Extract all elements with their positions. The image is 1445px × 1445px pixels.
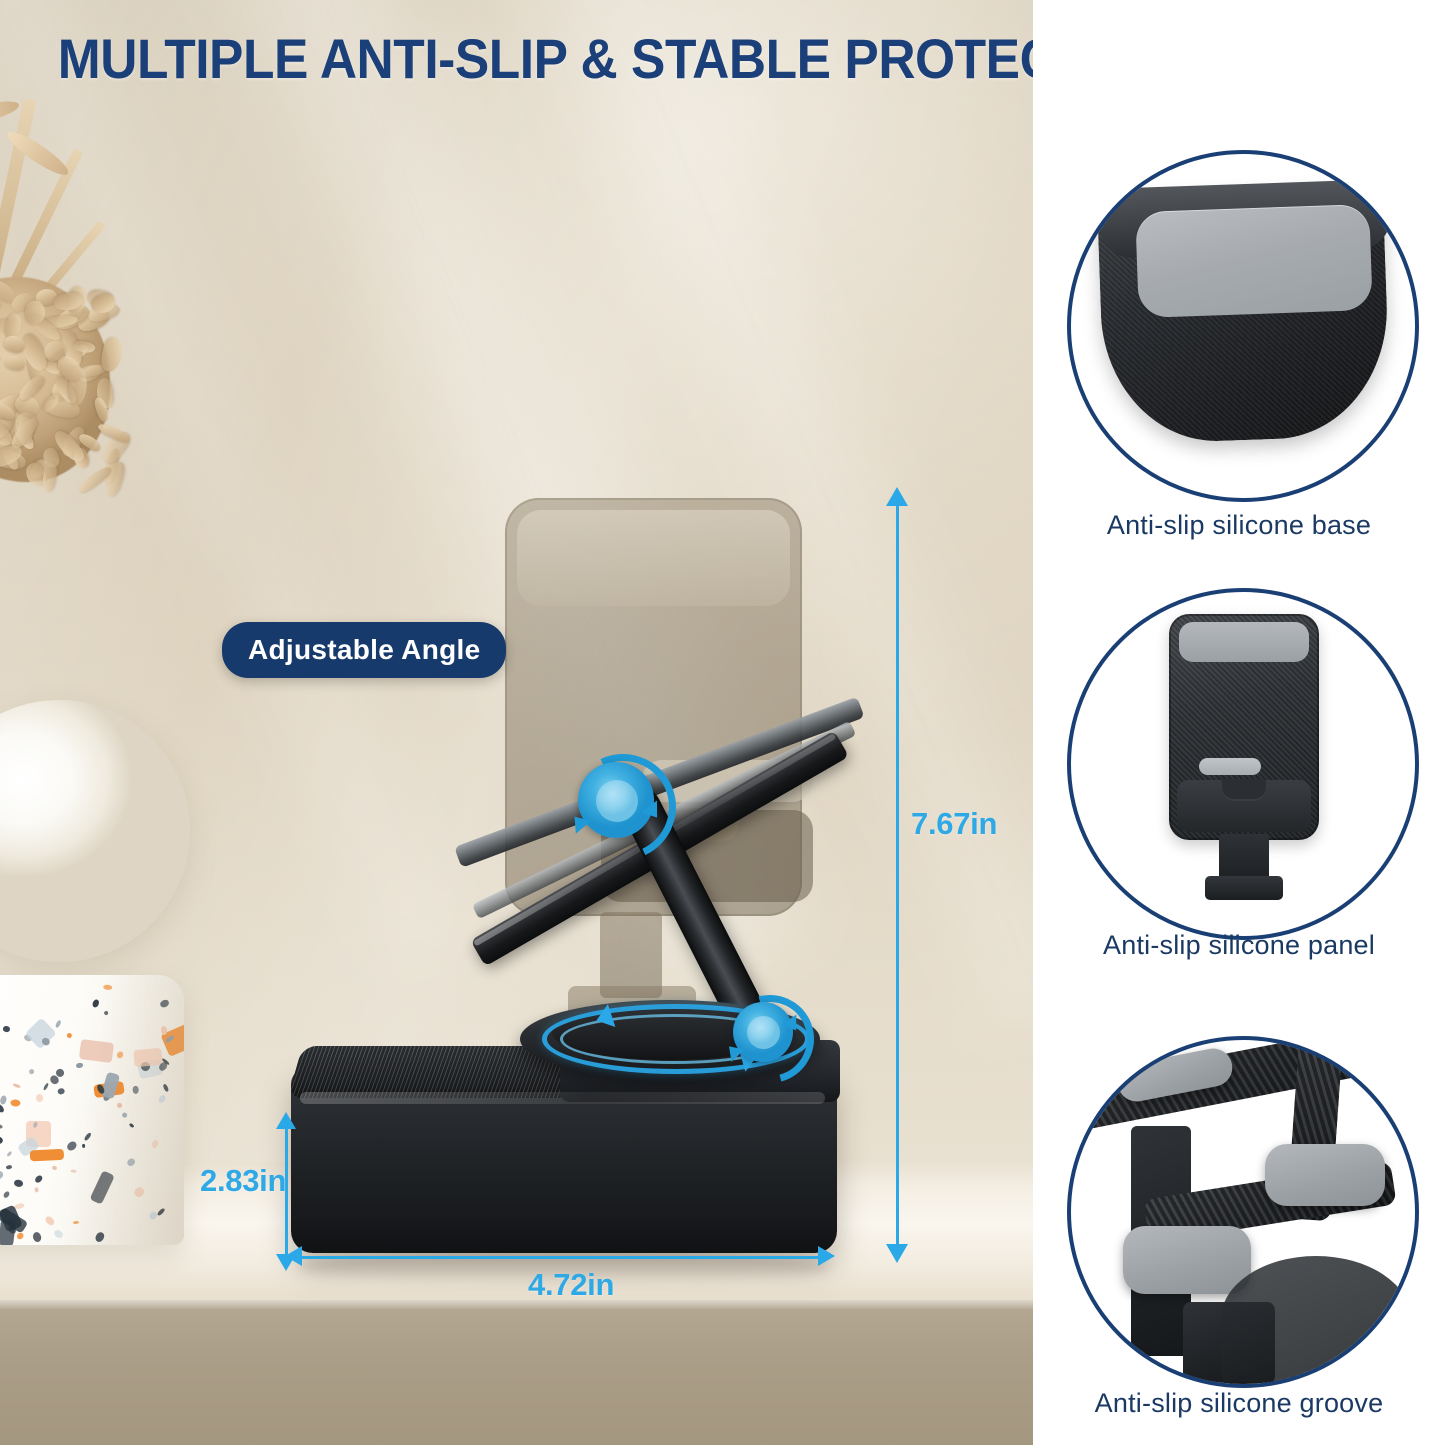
panel-hinge xyxy=(1205,876,1283,900)
width-dimension-line xyxy=(300,1256,822,1259)
feature-silicone-panel: Anti-slip silicone panel xyxy=(1033,588,1445,988)
width-dimension-label: 4.72in xyxy=(528,1267,614,1303)
phone-stand-product xyxy=(0,0,1033,1445)
adjustable-angle-badge: Adjustable Angle xyxy=(222,622,506,678)
upper-arm xyxy=(1067,1036,1393,1133)
product-scene: Adjustable Angle 7.67in 2.83in 4.72in xyxy=(0,0,1033,1445)
base-shadow-shape xyxy=(1221,1256,1411,1382)
height-dimension-line xyxy=(896,505,899,1245)
silicone-pad-top xyxy=(1179,622,1309,662)
feature-circle-frame xyxy=(1067,1036,1419,1388)
base-highlight xyxy=(300,1092,825,1104)
feature-circle-frame xyxy=(1067,588,1419,940)
dimension-arrow-down-icon xyxy=(886,1244,908,1263)
feature-silicone-groove: Anti-slip silicone groove xyxy=(1033,1036,1445,1445)
height-dimension-label: 7.67in xyxy=(911,806,997,842)
silicone-pad xyxy=(1135,204,1373,318)
feature-silicone-base: Anti-slip silicone base xyxy=(1033,150,1445,570)
feature-label-silicone-panel: Anti-slip silicone panel xyxy=(1033,930,1445,961)
silicone-pad-right xyxy=(1265,1144,1385,1206)
dimension-arrow-up-icon xyxy=(886,487,908,506)
dimension-arrow-left-icon xyxy=(285,1246,302,1266)
infographic-canvas: Adjustable Angle 7.67in 2.83in 4.72in MU… xyxy=(0,0,1445,1445)
dimension-arrow-up-icon xyxy=(276,1112,296,1129)
silicone-pad-middle xyxy=(1199,758,1261,775)
feature-callout-column: Anti-slip silicone base Anti-slip silico… xyxy=(1033,0,1445,1445)
pivot-core xyxy=(596,780,638,822)
feature-label-silicone-groove: Anti-slip silicone groove xyxy=(1033,1388,1445,1419)
feature-label-silicone-base: Anti-slip silicone base xyxy=(1033,510,1445,541)
feature-circle-frame xyxy=(1067,150,1419,502)
dimension-arrow-right-icon xyxy=(818,1246,835,1266)
pivot-core xyxy=(747,1016,780,1049)
phone-groove xyxy=(1177,780,1311,832)
panel-neck xyxy=(1219,834,1269,880)
silicone-pad-left xyxy=(1123,1226,1251,1294)
depth-dimension-label: 2.83in xyxy=(200,1163,286,1199)
